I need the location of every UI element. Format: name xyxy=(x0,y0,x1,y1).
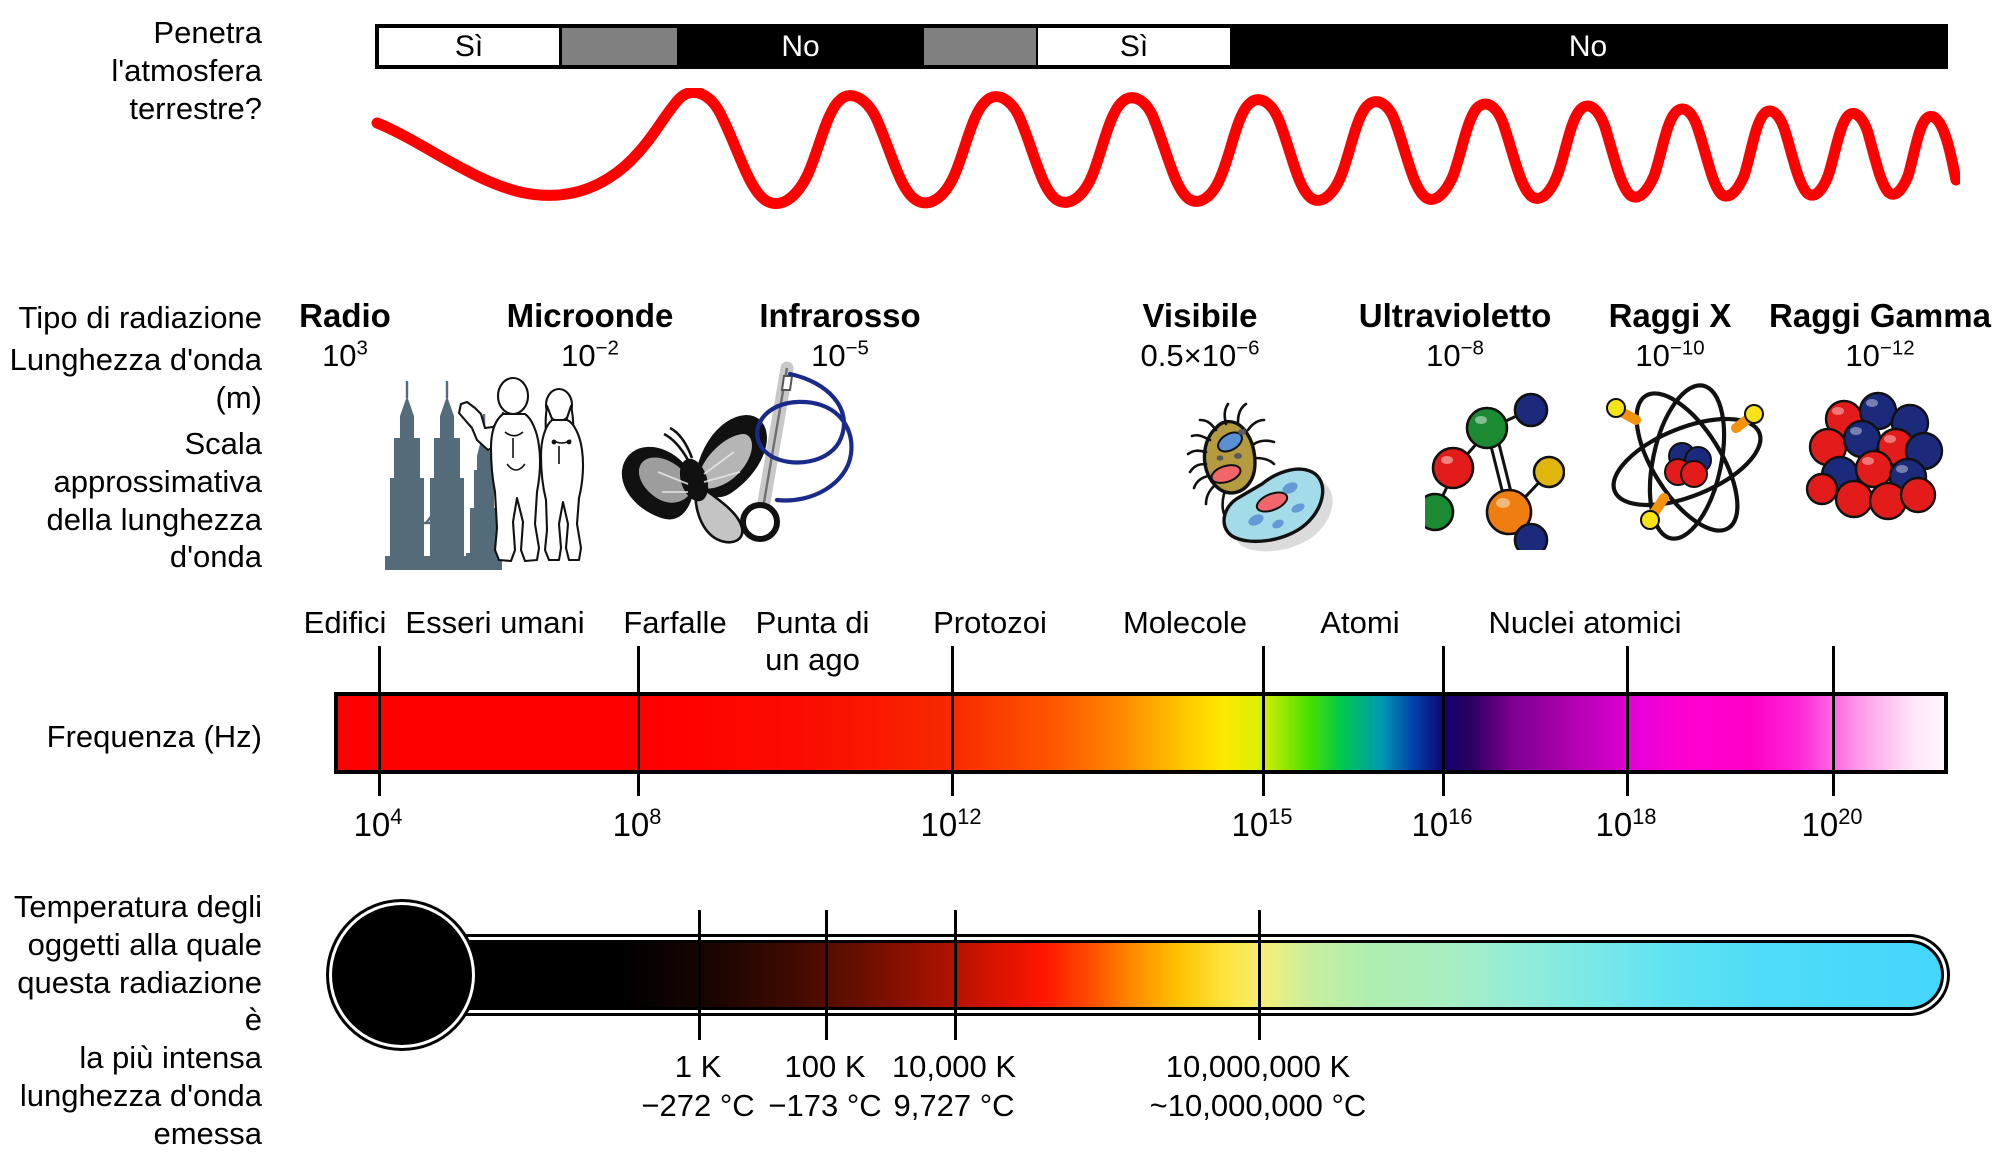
temperature-tick-1 xyxy=(698,910,701,1040)
atmosphere-segment-label: Sì xyxy=(1120,32,1148,62)
scale-object-atomi: Atomi xyxy=(1285,604,1435,641)
band-type-text: Infrarosso xyxy=(759,297,920,334)
radiation-type-row-label: Tipo di radiazione xyxy=(0,299,262,337)
temperature-celsius: 9,727 °C xyxy=(849,1087,1059,1126)
band-type-infrarosso: Infrarosso xyxy=(730,297,950,335)
band-wavelength-gamma: 10−12 xyxy=(1760,338,2000,374)
tick-exponent: 18 xyxy=(1632,804,1656,829)
scale-object-text-line2: un ago xyxy=(715,641,910,678)
frequency-tick-6 xyxy=(1626,646,1629,796)
scale-object-text: Edifici xyxy=(304,605,387,640)
nucleus-icon xyxy=(1800,385,1945,530)
wavelength-base: 0.5×10 xyxy=(1141,338,1237,373)
frequency-spectrum-bar xyxy=(334,692,1948,774)
wavelength-base: 10 xyxy=(1845,338,1879,373)
band-wavelength-radio: 103 xyxy=(255,338,435,374)
frequency-tick-label-5: 1016 xyxy=(1352,806,1532,844)
scale-label-line2: della lunghezza d'onda xyxy=(0,501,262,577)
scale-object-text: Esseri umani xyxy=(405,605,584,640)
temperature-label-line5: lunghezza d'onda xyxy=(0,1077,262,1115)
scale-object-molecole: Molecole xyxy=(1095,604,1275,641)
atom-icon xyxy=(1600,372,1775,552)
atmosphere-segment-label: No xyxy=(1569,32,1607,62)
frequency-row-label: Frequenza (Hz) xyxy=(0,718,262,756)
frequency-tick-3 xyxy=(951,646,954,796)
wavelength-exponent: −5 xyxy=(846,337,869,360)
atmosphere-segment-no-2: No xyxy=(1232,28,1944,65)
temperature-celsius: ~10,000,000 °C xyxy=(1108,1087,1408,1126)
electromagnetic-waveform xyxy=(360,88,1960,238)
temperature-row-label: Temperatura degli oggetti alla quale que… xyxy=(0,888,262,1153)
tick-exponent: 20 xyxy=(1838,804,1862,829)
wavelength-exponent: −8 xyxy=(1461,337,1484,360)
atmosphere-segment-label: No xyxy=(781,32,819,62)
scale-row-label: Scala approssimativa della lunghezza d'o… xyxy=(0,425,262,576)
tick-base: 10 xyxy=(1802,806,1839,843)
atmosphere-segment-no-1: No xyxy=(679,28,922,65)
wavelength-base: 10 xyxy=(322,338,356,373)
atmosphere-question-line2: terrestre? xyxy=(0,90,262,128)
band-type-text: Ultravioletto xyxy=(1359,297,1552,334)
scale-object-protozoi: Protozoi xyxy=(900,604,1080,641)
frequency-tick-label-3: 1012 xyxy=(861,806,1041,844)
temperature-label-line6: emessa xyxy=(0,1115,262,1153)
tick-base: 10 xyxy=(613,806,650,843)
atmosphere-penetration-bar: Sì No Sì No xyxy=(375,24,1948,69)
frequency-tick-label-7: 1020 xyxy=(1742,806,1922,844)
wavelength-label: Lunghezza d'onda (m) xyxy=(10,342,262,415)
band-type-text: Microonde xyxy=(507,297,674,334)
atmosphere-question-line1: Penetra l'atmosfera xyxy=(0,14,262,90)
wavelength-exponent: 3 xyxy=(357,337,368,360)
wavelength-exponent: −12 xyxy=(1880,337,1915,360)
band-type-visibile: Visibile xyxy=(1115,297,1285,335)
thermometer-bulb xyxy=(332,905,472,1045)
band-type-text: Visibile xyxy=(1143,297,1258,334)
wavelength-base: 10 xyxy=(561,338,595,373)
band-type-gamma: Raggi Gamma xyxy=(1760,297,2000,335)
band-wavelength-microonde: 10−2 xyxy=(480,338,700,374)
scale-label-line1: Scala approssimativa xyxy=(0,425,262,501)
tick-base: 10 xyxy=(1232,806,1269,843)
atmosphere-segment-yes-2: Sì xyxy=(1038,28,1230,65)
frequency-tick-1 xyxy=(378,646,381,796)
atmosphere-segment-partial-1 xyxy=(562,28,677,65)
band-type-raggix: Raggi X xyxy=(1590,297,1750,335)
temperature-kelvin: 10,000 K xyxy=(849,1048,1059,1087)
temperature-tick-2 xyxy=(825,910,828,1040)
frequency-tick-4 xyxy=(1262,646,1265,796)
wavelength-exponent: −10 xyxy=(1670,337,1705,360)
frequency-tick-7 xyxy=(1832,646,1835,796)
tick-exponent: 15 xyxy=(1268,804,1292,829)
band-type-microonde: Microonde xyxy=(480,297,700,335)
tick-base: 10 xyxy=(921,806,958,843)
atmosphere-segment-yes-1: Sì xyxy=(379,28,559,65)
frequency-tick-label-2: 108 xyxy=(547,806,727,844)
tick-exponent: 16 xyxy=(1448,804,1472,829)
tick-exponent: 12 xyxy=(957,804,981,829)
tick-exponent: 8 xyxy=(649,804,661,829)
scale-object-text: Protozoi xyxy=(933,605,1047,640)
temperature-tick-4 xyxy=(1258,910,1261,1040)
atmosphere-segment-partial-2 xyxy=(924,28,1036,65)
temperature-kelvin: 10,000,000 K xyxy=(1108,1048,1408,1087)
humans-icon xyxy=(455,372,595,568)
frequency-tick-label-4: 1015 xyxy=(1172,806,1352,844)
wavelength-base: 10 xyxy=(1635,338,1669,373)
waveform-path xyxy=(377,92,1956,203)
radiation-type-label: Tipo di radiazione xyxy=(18,300,262,335)
scale-object-punta-ago: Punta di un ago xyxy=(715,604,910,678)
scale-object-text: Nuclei atomici xyxy=(1489,605,1682,640)
wavelength-base: 10 xyxy=(1426,338,1460,373)
band-wavelength-ultravioletto: 10−8 xyxy=(1345,338,1565,374)
temperature-label-line2: oggetti alla quale xyxy=(0,926,262,964)
band-type-text: Raggi X xyxy=(1609,297,1732,334)
tick-base: 10 xyxy=(1412,806,1449,843)
temperature-label-line3: questa radiazione è xyxy=(0,964,262,1040)
band-wavelength-visibile: 0.5×10−6 xyxy=(1115,338,1285,374)
scale-object-text: Atomi xyxy=(1320,605,1399,640)
band-type-radio: Radio xyxy=(255,297,435,335)
temperature-tick-label-4: 10,000,000 K ~10,000,000 °C xyxy=(1108,1048,1408,1126)
tick-exponent: 4 xyxy=(390,804,402,829)
temperature-label-line1: Temperatura degli xyxy=(0,888,262,926)
atmosphere-segment-label: Sì xyxy=(455,32,483,62)
band-wavelength-raggix: 10−10 xyxy=(1590,338,1750,374)
needle-point-icon xyxy=(735,360,875,585)
protozoa-icon xyxy=(1180,390,1355,555)
scale-object-text: Molecole xyxy=(1123,605,1247,640)
band-type-text: Raggi Gamma xyxy=(1769,297,1991,334)
scale-object-nuclei: Nuclei atomici xyxy=(1455,604,1715,641)
frequency-tick-2 xyxy=(637,646,640,796)
temperature-tick-label-3: 10,000 K 9,727 °C xyxy=(849,1048,1059,1126)
wavelength-exponent: −6 xyxy=(1236,337,1259,360)
wavelength-exponent: −2 xyxy=(596,337,619,360)
wavelength-row-label: Lunghezza d'onda (m) xyxy=(0,341,262,417)
tick-base: 10 xyxy=(354,806,391,843)
frequency-tick-label-6: 1018 xyxy=(1536,806,1716,844)
temperature-label-line4: la più intensa xyxy=(0,1039,262,1077)
thermometer-tube xyxy=(440,940,1944,1010)
tick-base: 10 xyxy=(1596,806,1633,843)
frequency-tick-label-1: 104 xyxy=(288,806,468,844)
frequency-tick-5 xyxy=(1442,646,1445,796)
atmosphere-question-label: Penetra l'atmosfera terrestre? xyxy=(0,14,262,127)
band-type-ultravioletto: Ultravioletto xyxy=(1345,297,1565,335)
scale-object-text-line1: Punta di xyxy=(715,604,910,641)
scale-object-text: Farfalle xyxy=(623,605,726,640)
temperature-tick-3 xyxy=(954,910,957,1040)
band-type-text: Radio xyxy=(299,297,391,334)
scale-object-esseri-umani: Esseri umani xyxy=(405,604,585,641)
molecule-icon xyxy=(1425,390,1565,550)
frequency-label: Frequenza (Hz) xyxy=(47,719,262,754)
